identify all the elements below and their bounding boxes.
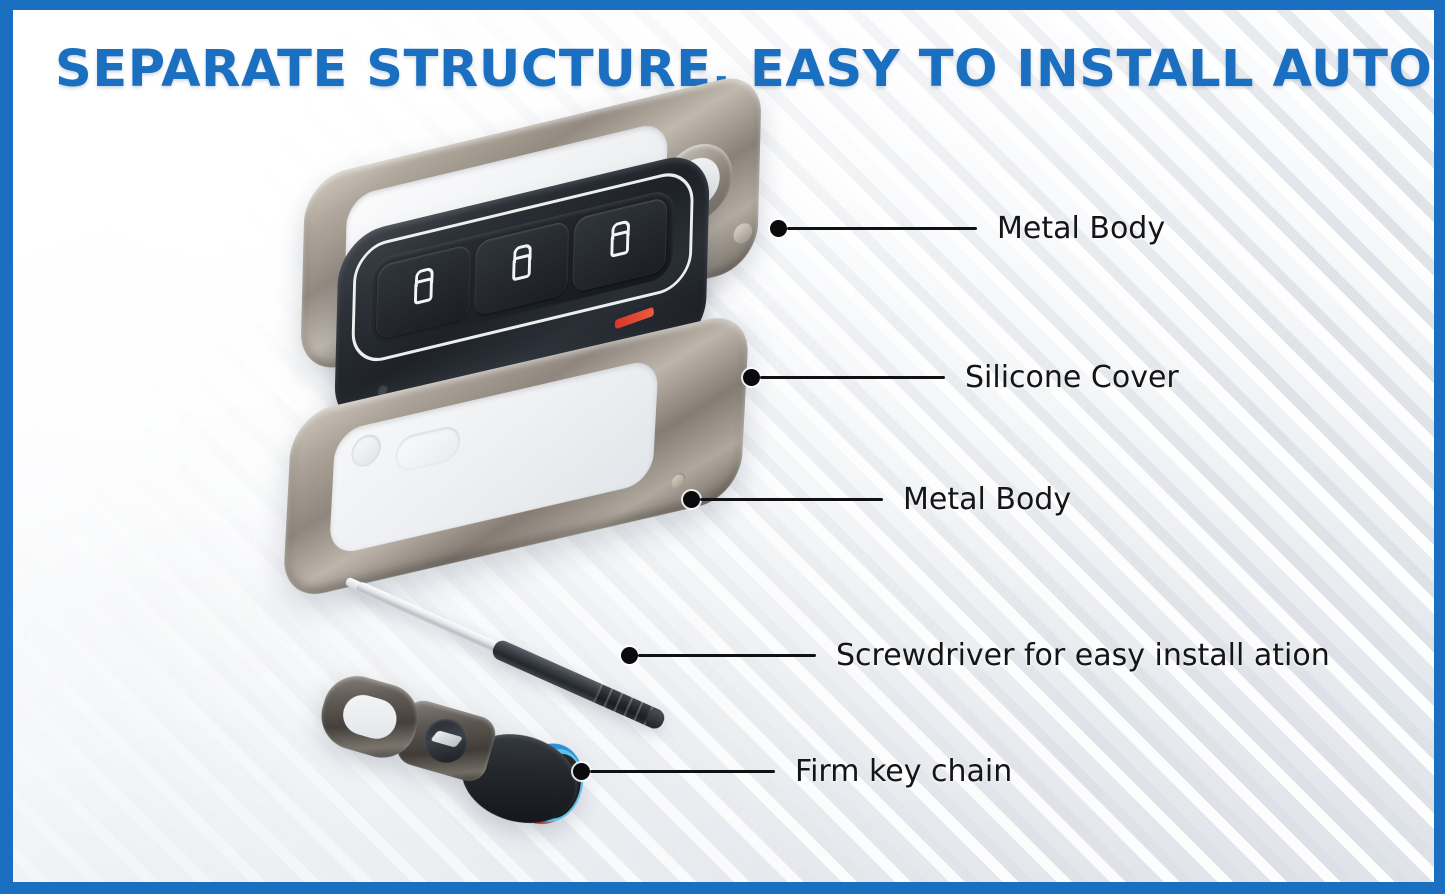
- metal-frame-bottom-window: [329, 357, 659, 556]
- screwdriver-shaft: [355, 581, 506, 656]
- trunk-icon: [610, 229, 629, 257]
- metal-frame-bottom-slot: [395, 424, 461, 474]
- key-button-pad: [369, 188, 675, 350]
- callout-metal-body-top: Metal Body: [770, 211, 1165, 246]
- metal-frame-top-window: [344, 120, 668, 335]
- key-button-trunk: [572, 196, 667, 293]
- key-button-lock: [376, 244, 471, 341]
- silicone-cover-outline: [351, 166, 694, 368]
- callout-screwdriver: Screwdriver for easy install ation: [621, 638, 1330, 673]
- page-title: SEPARATE STRUCTURE, EASY TO INSTALL AUTO: [55, 40, 1433, 99]
- screwdriver-tip: [344, 577, 366, 593]
- background-stripes-gray: [13, 10, 1434, 882]
- lock-icon: [414, 276, 433, 304]
- callout-leader-line: [760, 376, 945, 379]
- callout-label-key-chain: Firm key chain: [795, 754, 1012, 789]
- callout-key-chain: Firm key chain: [573, 754, 1012, 789]
- key-button-unlock: [474, 220, 569, 317]
- silicone-cover-dimple: [377, 383, 388, 397]
- callout-silicone-cover: Silicone Cover: [743, 360, 1179, 395]
- keychain-carabiner-clip: [313, 668, 426, 766]
- callout-leader-line: [700, 498, 883, 501]
- product-illustration: [13, 10, 1434, 882]
- callout-label-screwdriver: Screwdriver for easy install ation: [836, 638, 1330, 673]
- metal-frame-bottom-band: [282, 310, 750, 603]
- keychain-loop: [451, 721, 588, 836]
- content-canvas: SEPARATE STRUCTURE, EASY TO INSTALL AUTO: [13, 10, 1434, 882]
- infographic-root: SEPARATE STRUCTURE, EASY TO INSTALL AUTO: [0, 0, 1445, 894]
- keychain-image: [302, 662, 604, 855]
- screwdriver-image: [353, 577, 663, 729]
- callout-dot-icon: [770, 220, 787, 237]
- metal-frame-bottom-hook: [351, 432, 382, 470]
- panic-button-red: [615, 307, 654, 330]
- callout-label-metal-body-bottom: Metal Body: [903, 482, 1071, 517]
- callout-dot-icon: [573, 763, 590, 780]
- keychain-plate: [393, 696, 500, 785]
- callout-leader-line: [638, 654, 816, 657]
- callout-leader-line: [787, 227, 977, 230]
- metal-frame-top-port: [659, 136, 733, 230]
- callout-metal-body-bottom: Metal Body: [683, 482, 1071, 517]
- screwdriver-cap: [644, 707, 666, 730]
- callout-dot-icon: [683, 491, 700, 508]
- callout-leader-line: [590, 770, 775, 773]
- callout-dot-icon: [743, 369, 760, 386]
- callout-label-silicone-cover: Silicone Cover: [965, 360, 1179, 395]
- unlock-icon: [512, 253, 531, 281]
- metal-frame-top-nub: [733, 221, 752, 245]
- callout-dot-icon: [621, 647, 638, 664]
- metal-frame-top-band: [300, 70, 762, 376]
- metal-frame-top-image: [300, 70, 762, 376]
- keychain-emblem: [419, 714, 473, 768]
- callout-label-metal-body-top: Metal Body: [997, 211, 1165, 246]
- background-glow: [13, 10, 1434, 882]
- metal-frame-bottom-image: [282, 310, 750, 603]
- background-stripes-light: [13, 10, 1434, 882]
- silicone-cover-image: [334, 148, 711, 434]
